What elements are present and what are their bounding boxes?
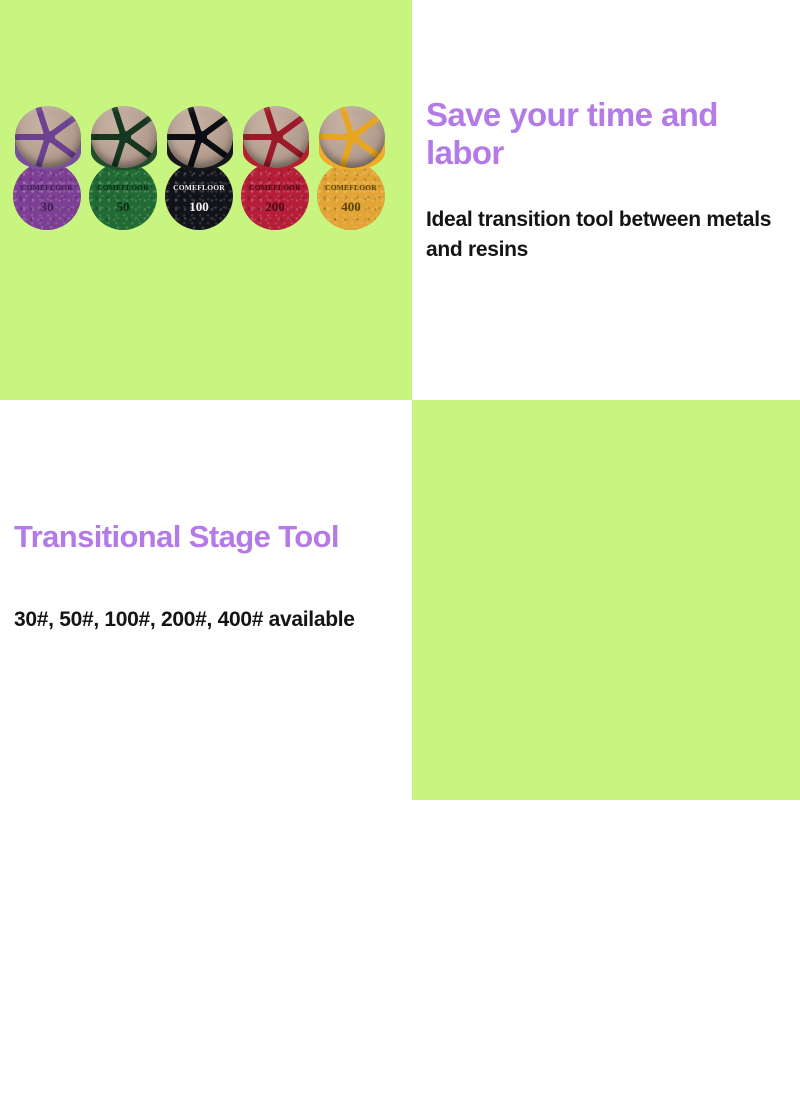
panel-top-right-copy [412, 0, 800, 400]
disc-center-hub [194, 131, 207, 143]
disc-center-hub [118, 131, 131, 143]
disc-row: COMEFLOOR30COMEFLOOR50COMEFLOOR100COMEFL… [0, 100, 412, 260]
abrasive-head-200 [243, 106, 309, 168]
brand-label: COMEFLOOR [21, 183, 73, 192]
abrasive-head-50 [91, 106, 157, 168]
product-infographic: COMEFLOOR30COMEFLOOR50COMEFLOOR100COMEFL… [0, 0, 800, 800]
disc-center-hub [270, 131, 283, 143]
disc-unit-30: COMEFLOOR30 [10, 100, 86, 250]
brand-label: COMEFLOOR [325, 183, 377, 192]
headline-save-your-time: Save your time and labor [426, 96, 776, 173]
velcro-disc-30: COMEFLOOR30 [13, 162, 81, 230]
grit-label: 200 [265, 199, 285, 215]
grit-label: 100 [189, 199, 209, 215]
velcro-disc-400: COMEFLOOR400 [317, 162, 385, 230]
disc-unit-100: COMEFLOOR100 [162, 100, 238, 250]
disc-unit-200: COMEFLOOR200 [238, 100, 314, 250]
abrasive-head-400 [319, 106, 385, 168]
grit-label: 50 [117, 199, 130, 215]
grit-label: 30 [41, 199, 54, 215]
abrasive-head-30 [15, 106, 81, 168]
velcro-disc-50: COMEFLOOR50 [89, 162, 157, 230]
disc-center-hub [346, 131, 359, 143]
disc-unit-400: COMEFLOOR400 [314, 100, 390, 250]
abrasive-head-100 [167, 106, 233, 168]
disc-unit-50: COMEFLOOR50 [86, 100, 162, 250]
velcro-disc-100: COMEFLOOR100 [165, 162, 233, 230]
velcro-disc-200: COMEFLOOR200 [241, 162, 309, 230]
panel-bottom-right-hero [412, 400, 800, 800]
brand-label: COMEFLOOR [249, 183, 301, 192]
grit-label: 400 [341, 199, 361, 215]
disc-center-hub [42, 131, 55, 143]
panel-top-left-product-row: COMEFLOOR30COMEFLOOR50COMEFLOOR100COMEFL… [0, 0, 412, 400]
body-grit-availability: 30#, 50#, 100#, 200#, 400# available [14, 605, 406, 635]
panel-bottom-left-copy [0, 400, 412, 800]
brand-label: COMEFLOOR [97, 183, 149, 192]
brand-label: COMEFLOOR [173, 183, 225, 192]
headline-transitional-stage-tool: Transitional Stage Tool [14, 519, 406, 555]
body-ideal-transition-tool: Ideal transition tool between metals and… [426, 205, 792, 265]
